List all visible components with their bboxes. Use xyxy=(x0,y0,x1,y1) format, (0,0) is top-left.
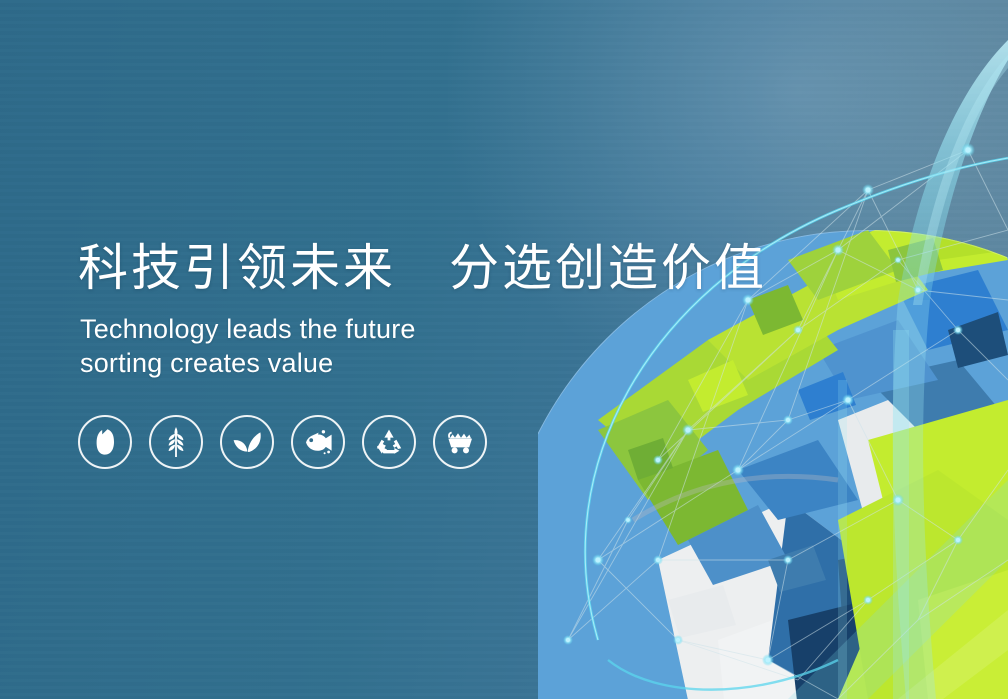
icon-badge-recycle[interactable] xyxy=(362,415,416,469)
promo-banner: 科技引领未来 分选创造价值 Technology leads the futur… xyxy=(0,0,1008,699)
orbit-ring xyxy=(585,158,1008,690)
page-title: 科技引领未来 分选创造价值 xyxy=(78,240,767,296)
fish-icon xyxy=(303,429,333,455)
icon-badge-tea-leaf[interactable] xyxy=(220,415,274,469)
orbit-ribbon xyxy=(893,40,1008,699)
subtitle: Technology leads the future sorting crea… xyxy=(80,312,416,380)
network-nodes xyxy=(563,143,975,666)
icon-badge-grain-kernel[interactable] xyxy=(78,415,132,469)
mine-cart-icon xyxy=(445,429,475,455)
industry-icon-row xyxy=(78,415,487,469)
subtitle-line-1: Technology leads the future xyxy=(80,312,416,346)
tea-leaf-icon xyxy=(232,429,262,455)
recycle-icon xyxy=(375,428,403,456)
icon-badge-mine-cart[interactable] xyxy=(433,415,487,469)
subtitle-line-2: sorting creates value xyxy=(80,346,416,380)
corner-glow xyxy=(448,0,1008,400)
globe-graphic xyxy=(538,0,1008,699)
icon-badge-wheat-ear[interactable] xyxy=(149,415,203,469)
grain-kernel-icon xyxy=(92,427,118,457)
wheat-ear-icon xyxy=(162,426,190,458)
network-mesh xyxy=(568,150,1008,699)
icon-badge-fish[interactable] xyxy=(291,415,345,469)
